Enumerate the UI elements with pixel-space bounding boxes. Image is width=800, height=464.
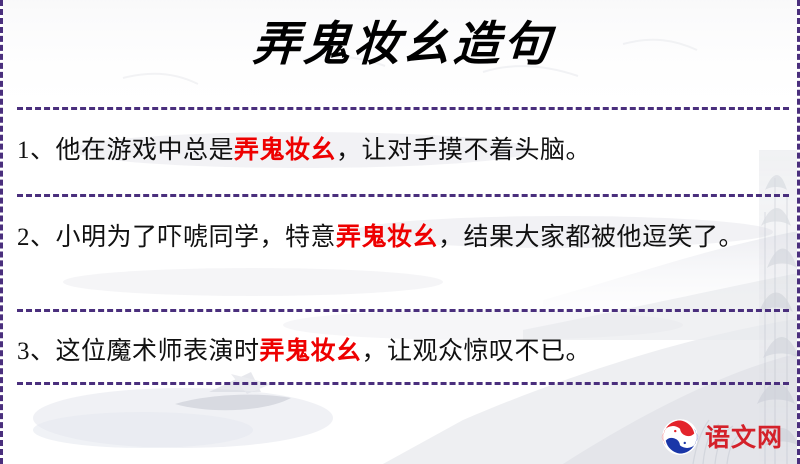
divider-line-3 bbox=[17, 309, 789, 312]
yinyang-circle-icon bbox=[661, 418, 699, 456]
page-title-text: 弄鬼妆幺造句 bbox=[252, 18, 555, 72]
sentence-item-2: 2、小明为了吓唬同学，特意弄鬼妆幺，结果大家都被他逗笑了。 bbox=[17, 216, 789, 259]
worksheet-page: 弄鬼妆幺造句 1、他在游戏中总是弄鬼妆幺，让对手摸不着头脑。 2、小明为了吓唬同… bbox=[0, 0, 800, 464]
sentence-number-3: 3、 bbox=[17, 338, 56, 365]
divider-line-2 bbox=[17, 194, 789, 197]
sentence-number-1: 1、 bbox=[17, 137, 56, 164]
sentence-item-3: 3、这位魔术师表演时弄鬼妆幺，让观众惊叹不已。 bbox=[17, 330, 789, 373]
divider-line-1 bbox=[17, 107, 789, 110]
sentence-text-before-3: 这位魔术师表演时 bbox=[56, 338, 260, 365]
keyword-highlight-3: 弄鬼妆幺 bbox=[260, 336, 362, 365]
keyword-highlight-1: 弄鬼妆幺 bbox=[234, 135, 336, 164]
sentence-number-2: 2、 bbox=[17, 224, 56, 251]
sentence-text-before-1: 他在游戏中总是 bbox=[56, 137, 235, 164]
site-logo-text: 语文网 bbox=[705, 425, 783, 450]
divider-line-4 bbox=[17, 382, 789, 385]
keyword-highlight-2: 弄鬼妆幺 bbox=[336, 222, 438, 251]
sentence-text-after-2: ，结果大家都被他逗笑了。 bbox=[438, 224, 744, 251]
sentence-item-1: 1、他在游戏中总是弄鬼妆幺，让对手摸不着头脑。 bbox=[17, 129, 789, 172]
sentence-text-before-2: 小明为了吓唬同学，特意 bbox=[56, 224, 337, 251]
page-title: 弄鬼妆幺造句 bbox=[3, 18, 800, 72]
sentence-text-after-3: ，让观众惊叹不已。 bbox=[362, 338, 592, 365]
site-logo[interactable]: 语文网 bbox=[661, 418, 783, 456]
sentence-text-after-1: ，让对手摸不着头脑。 bbox=[336, 137, 591, 164]
